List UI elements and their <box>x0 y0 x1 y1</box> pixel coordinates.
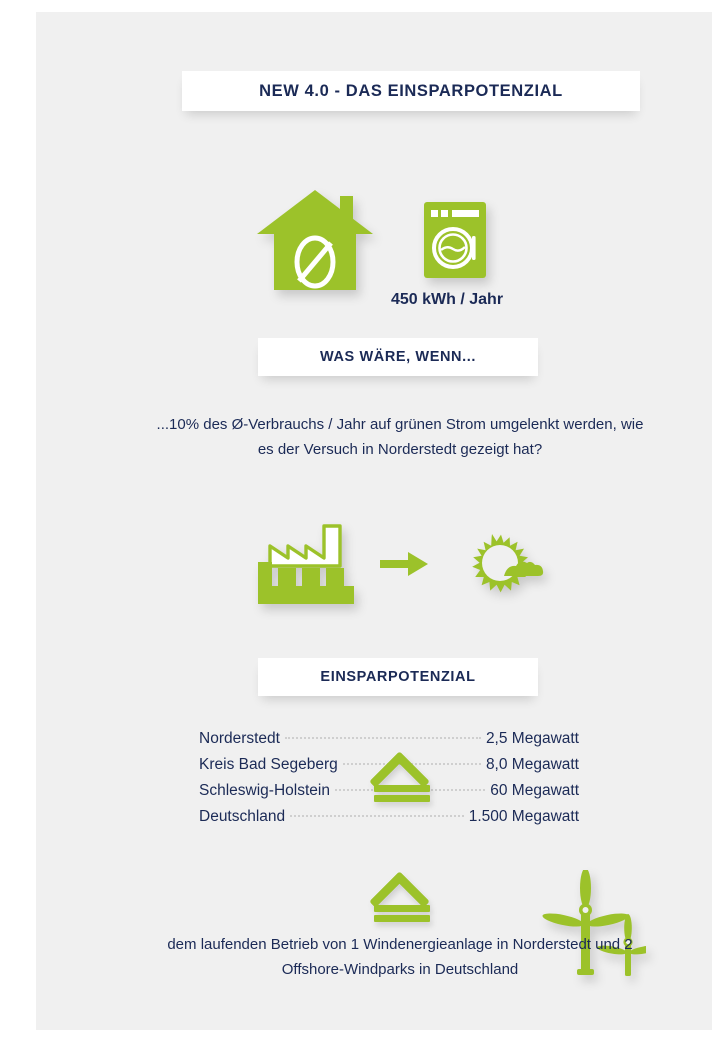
arrow-right-icon <box>380 550 430 583</box>
region-value: 1.500 Megawatt <box>469 808 579 826</box>
equals-bar-top <box>374 905 430 912</box>
conclusion-text: dem laufenden Betrieb von 1 Windenergiea… <box>150 932 650 982</box>
what-if-label: WAS WÄRE, WENN... <box>320 349 476 365</box>
sun-cloud-icon <box>460 534 544 601</box>
dot-leader <box>290 815 464 817</box>
infographic-panel: NEW 4.0 - DAS EINSPARPOTENZIAL <box>36 12 712 1030</box>
title-banner: NEW 4.0 - DAS EINSPARPOTENZIAL <box>182 71 640 111</box>
equals-approx-icon <box>374 760 430 800</box>
region-value: 8,0 Megawatt <box>486 756 579 774</box>
list-item: Norderstedt 2,5 Megawatt <box>199 730 579 756</box>
equals-approx-icon <box>374 880 430 920</box>
list-item: Deutschland 1.500 Megawatt <box>199 808 579 834</box>
infographic-canvas: NEW 4.0 - DAS EINSPARPOTENZIAL <box>0 0 728 1043</box>
house-average-icon <box>254 188 376 297</box>
region-label: Norderstedt <box>199 730 280 748</box>
saving-potential-label: EINSPARPOTENZIAL <box>320 669 475 685</box>
region-label: Schleswig-Holstein <box>199 782 330 800</box>
region-value: 60 Megawatt <box>490 782 579 800</box>
washer-consumption-value: 450 kWh / Jahr <box>391 291 541 309</box>
question-text: ...10% des Ø-Verbrauchs / Jahr auf grüne… <box>150 412 650 462</box>
region-value: 2,5 Megawatt <box>486 730 579 748</box>
equals-bar-top <box>374 785 430 792</box>
factory-icon <box>254 524 358 611</box>
equals-bar-bottom <box>374 795 430 802</box>
chevron-up-shape <box>369 871 430 932</box>
equals-bar-bottom <box>374 915 430 922</box>
page-title: NEW 4.0 - DAS EINSPARPOTENZIAL <box>259 82 563 101</box>
washing-machine-icon <box>424 202 486 283</box>
region-label: Deutschland <box>199 808 285 826</box>
region-label: Kreis Bad Segeberg <box>199 756 338 774</box>
dot-leader <box>285 737 481 739</box>
what-if-banner: WAS WÄRE, WENN... <box>258 338 538 376</box>
saving-potential-banner: EINSPARPOTENZIAL <box>258 658 538 696</box>
